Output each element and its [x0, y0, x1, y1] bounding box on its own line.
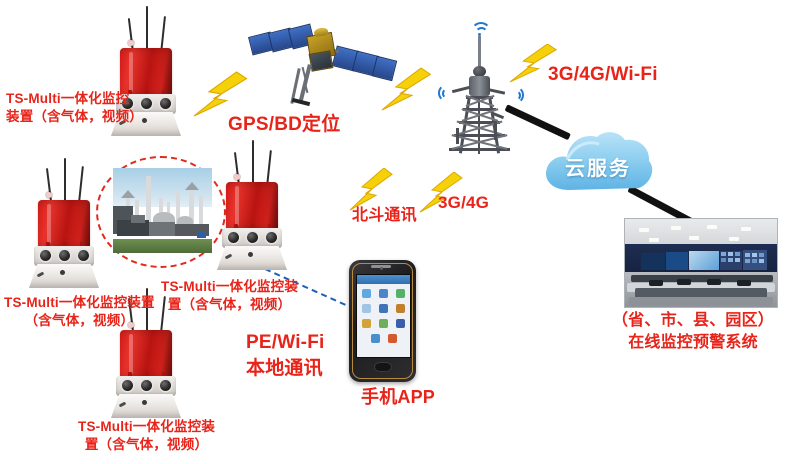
label-control-center: （省、市、县、园区） 在线监控预警系统	[612, 310, 774, 353]
cloud-label: 云服务	[565, 152, 631, 181]
cell-tower-icon	[432, 22, 528, 162]
satellite-icon	[248, 12, 394, 108]
chemical-plant-photo	[113, 168, 212, 253]
label-phone-app: 手机APP	[361, 385, 435, 409]
monitor-device-left	[22, 158, 108, 288]
cloud-service-node: 云服务	[539, 122, 657, 198]
diagram-canvas: 云服务	[0, 0, 797, 464]
tablet-screen	[356, 274, 411, 358]
label-gps-positioning: GPS/BD定位	[228, 112, 340, 138]
label-3g4g: 3G/4G	[438, 192, 489, 215]
bolt-gps-uplink	[188, 70, 248, 118]
label-local-comm: PE/Wi-Fi 本地通讯	[246, 330, 324, 381]
label-sensor-top: TS-Multi一体化监控 装置（含气体，视频）	[6, 90, 143, 126]
label-3g4g-wifi: 3G/4G/Wi-Fi	[548, 62, 658, 88]
control-center-photo	[624, 218, 778, 308]
rugged-tablet-device	[349, 260, 416, 382]
label-sensor-bottom: TS-Multi一体化监控装 置（含气体，视频）	[78, 418, 215, 454]
label-sensor-left: TS-Multi一体化监控装置 （含气体，视频）	[4, 294, 155, 330]
monitor-device-mid	[210, 140, 296, 270]
label-sensor-mid: TS-Multi一体化监控装 置（含气体，视频）	[161, 278, 298, 314]
bolt-satellite-tower	[378, 66, 434, 114]
label-beidou-comm: 北斗通讯	[352, 205, 417, 227]
